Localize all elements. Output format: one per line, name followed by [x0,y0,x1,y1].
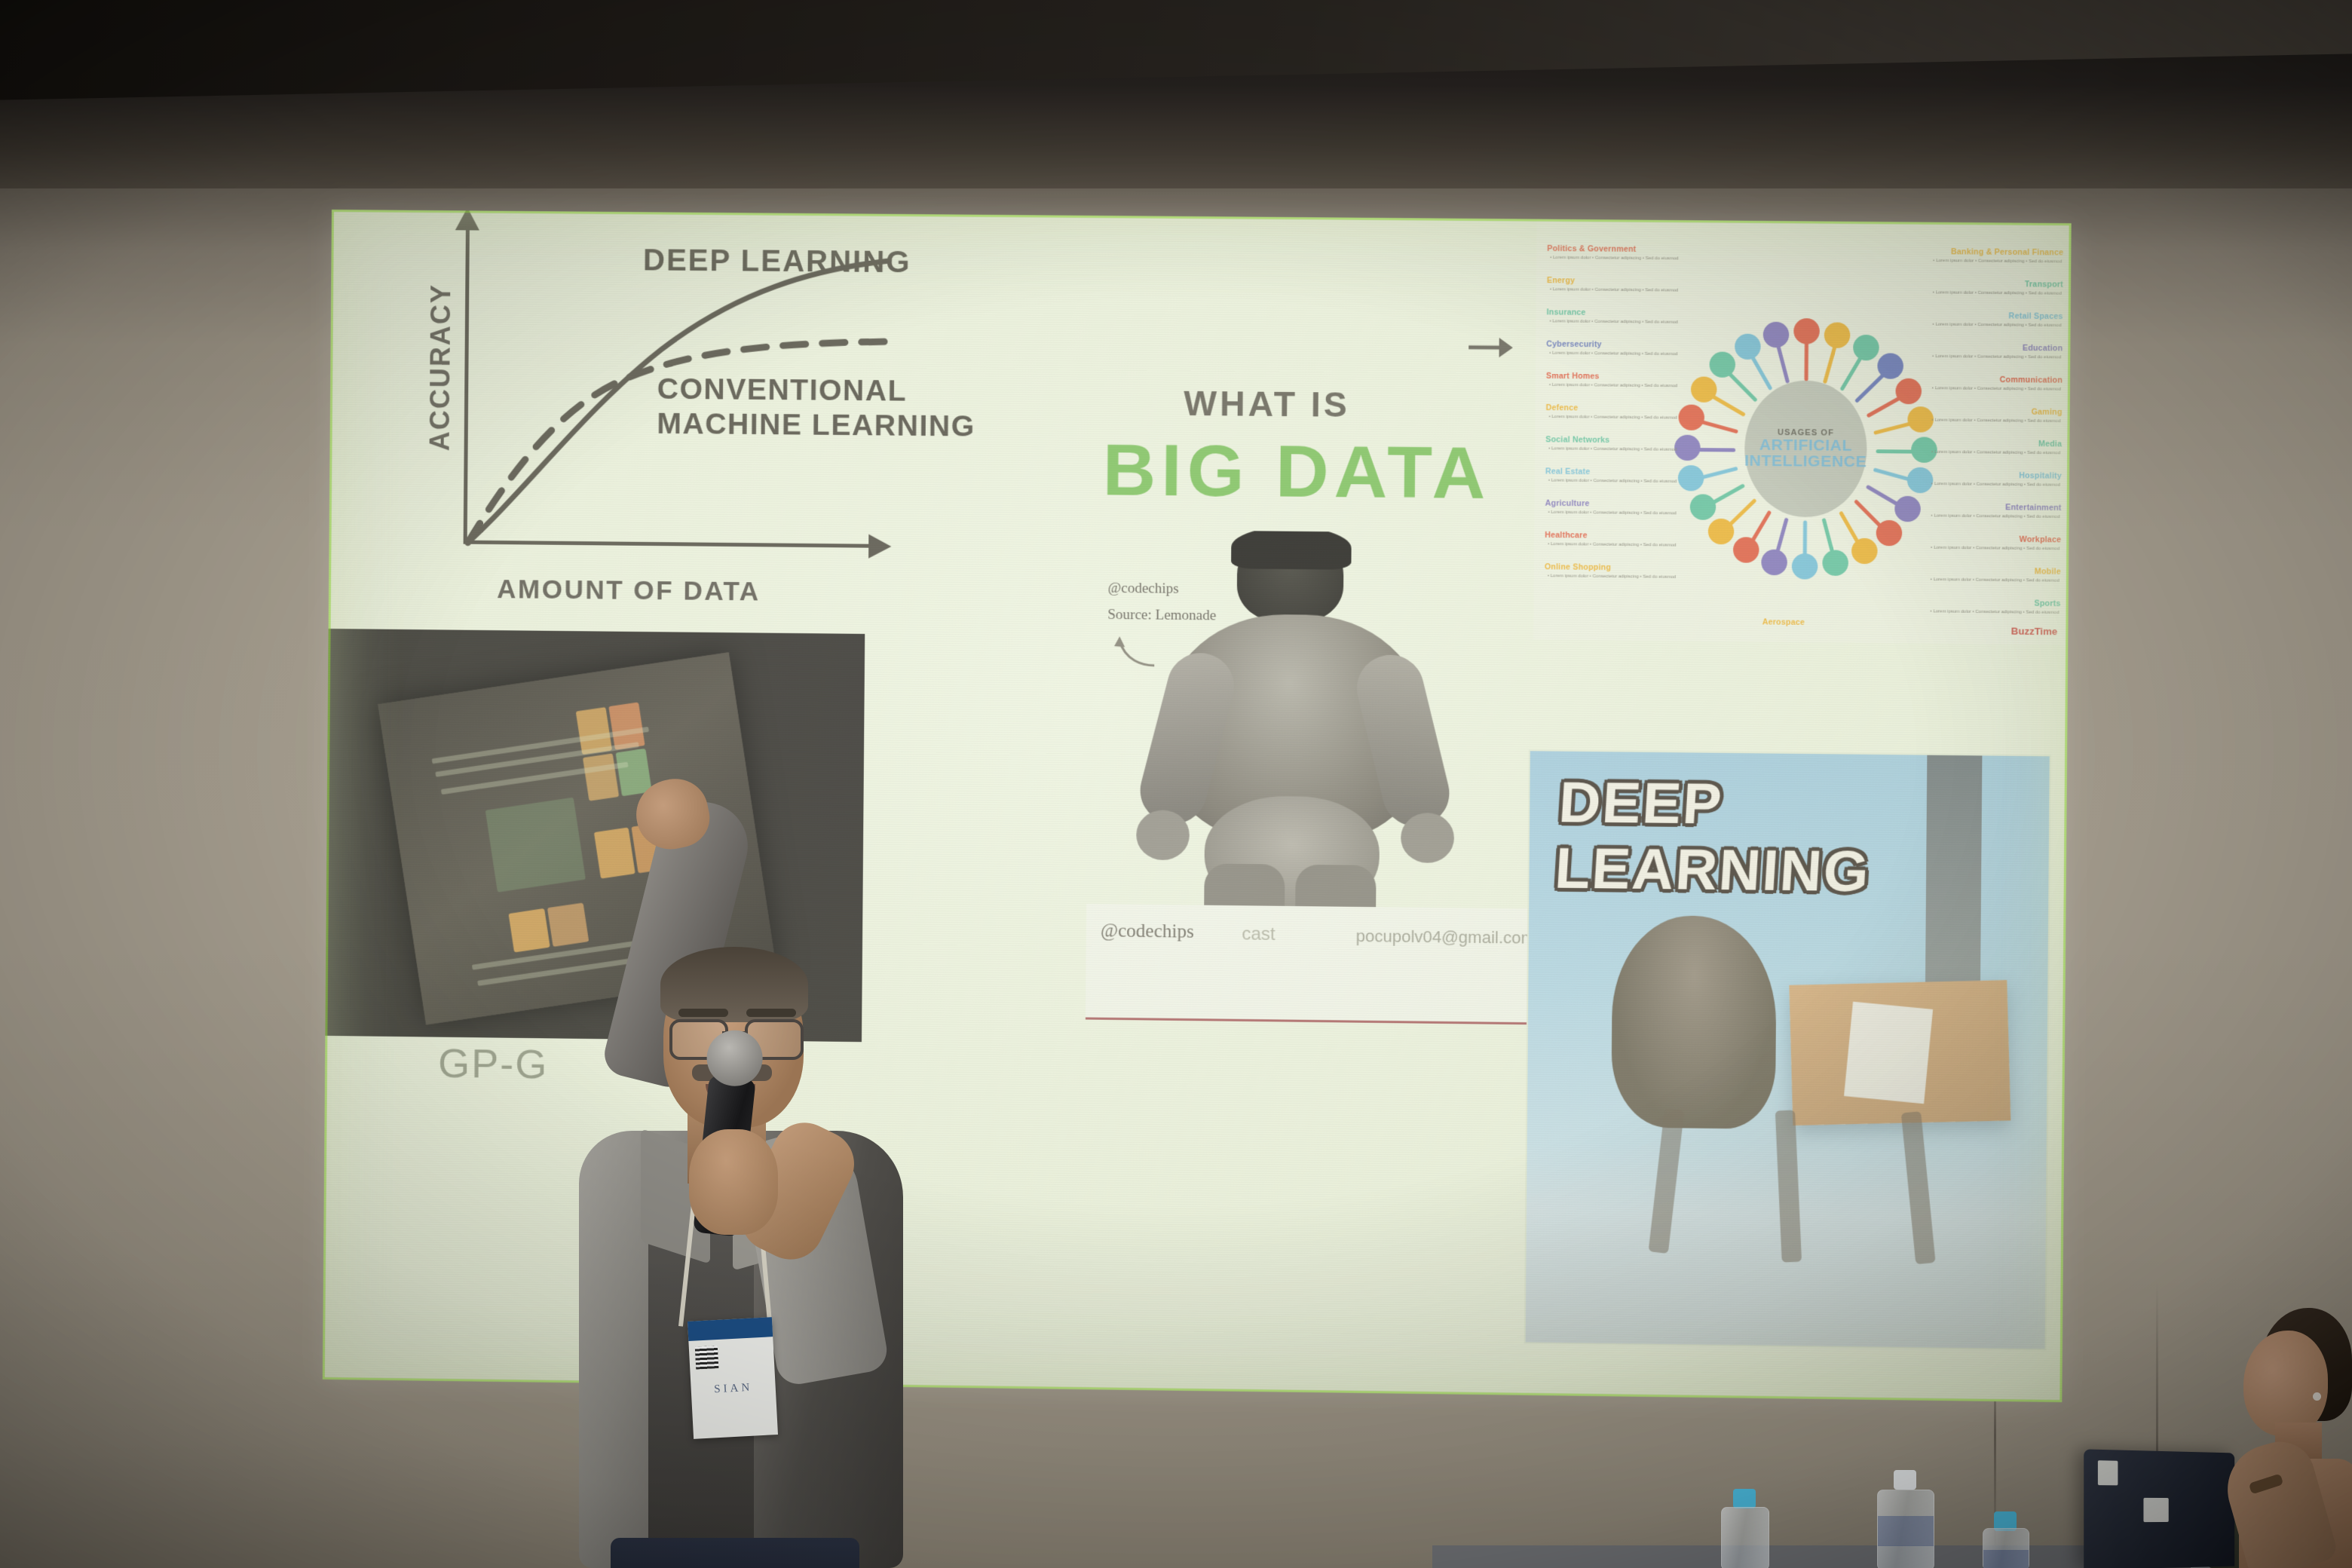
infographic-category-sublines: • Lorem ipsum dolor • Consectetur adipis… [1932,322,2061,330]
infographic-category-label: Real Estate [1545,467,1591,476]
conference-badge: SIAN [688,1317,778,1439]
infographic-category-sublines: • Lorem ipsum dolor • Consectetur adipis… [1933,289,2062,298]
big-data-watermark-handle: @codechips [1101,920,1194,942]
big-data-eyebrow: WHAT IS [1184,383,1350,425]
bottle-body [1983,1528,2029,1568]
audience-member [2216,1308,2352,1568]
infographic-category-sublines: • Lorem ipsum dolor • Consectetur adipis… [1550,318,1678,326]
eyebrow-left [678,1009,728,1017]
infographic-category-sublines: • Lorem ipsum dolor • Consectetur adipis… [1930,608,2059,617]
conventional-ml-line1: CONVENTIONAL [657,373,908,408]
infographic-category-sublines: • Lorem ipsum dolor • Consectetur adipis… [1932,354,2061,362]
photo-scene: ACCURACY AMOUNT OF DATA DEEP LEARNING CO… [0,0,2352,1568]
infographic-category-node [1763,322,1790,348]
infographic-category-label: Sports [2034,599,2060,608]
infographic-category-label: Defence [1546,403,1579,412]
gpu-caption: GP-G [438,1040,549,1089]
desk-paper [1844,1002,1933,1104]
infographic-category-sublines: • Lorem ipsum dolor • Consectetur adipis… [1550,286,1678,295]
infographic-category-node [1732,537,1759,563]
hub-title-line1: ARTIFICIAL [1759,436,1852,454]
infographic-category-label: Online Shopping [1545,562,1611,572]
infographic-category-sublines: • Lorem ipsum dolor • Consectetur adipis… [1932,385,2061,394]
bottle-body [1721,1507,1769,1568]
deep-learning-meme: DEEP LEARNING [1524,749,2051,1350]
hub-title: ARTIFICIAL INTELLIGENCE [1744,436,1867,470]
infographic-category-sublines: • Lorem ipsum dolor • Consectetur adipis… [1933,258,2062,266]
infographic-category-label: Education [2023,344,2063,354]
infographic-category-sublines: • Lorem ipsum dolor • Consectetur adipis… [1548,478,1677,486]
infographic-category-node [1851,538,1877,565]
infographic-category-label: Insurance [1547,308,1586,317]
infographic-category-node [1906,467,1933,494]
badge-qr-code [695,1346,719,1370]
eyebrow-right [746,1009,796,1017]
water-bottle [1983,1511,2028,1568]
laptop[interactable] [2084,1449,2234,1568]
infographic-category-sublines: • Lorem ipsum dolor • Consectetur adipis… [1548,510,1677,518]
infographic-category-label: Healthcare [1545,531,1587,541]
infographic-category-label: Communication [2000,375,2063,385]
infographic-category-node [1853,335,1879,361]
laptop-sticker [2098,1460,2118,1485]
infographic-category-sublines: • Lorem ipsum dolor • Consectetur adipis… [1931,418,2060,426]
infographic-category-label: Politics & Government [1547,244,1636,254]
infographic-category-node [1689,494,1716,520]
infographic-category-node [1735,333,1761,360]
infographic-category-label: Smart Homes [1546,372,1600,381]
infographic-category-label: Retail Spaces [2009,311,2063,321]
infographic-category-node [1761,549,1787,575]
infographic-category-sublines: • Lorem ipsum dolor • Consectetur adipis… [1549,414,1677,422]
meme-title: DEEP LEARNING [1553,770,2051,907]
infographic-category-node [1896,378,1922,404]
underwater-student [1611,915,1777,1129]
bottle-body [1877,1490,1934,1568]
bottle-label [1983,1550,2029,1568]
water-bottle [1721,1489,1768,1568]
infographic-category-sublines: • Lorem ipsum dolor • Consectetur adipis… [1931,577,2060,585]
badge-text: SIAN [691,1380,776,1398]
infographic-category-sublines: • Lorem ipsum dolor • Consectetur adipis… [1931,449,2060,458]
presenter: SIAN [558,799,950,1568]
right-arrow-icon [1467,332,1514,363]
infographic-category-node [1793,318,1820,345]
big-data-watermark-email: pocupolv04@gmail.com [1356,926,1536,948]
infographic-category-label: Transport [2025,280,2063,289]
infographic-category-node [1674,435,1701,461]
hand-holding-microphone [689,1129,778,1235]
ai-usages-infographic: USAGES OF ARTIFICIAL INTELLIGENCE Politi… [1533,216,2072,645]
bottle-cap [1733,1489,1756,1508]
infographic-category-sublines: • Lorem ipsum dolor • Consectetur adipis… [1548,541,1676,550]
infographic-category-sublines: • Lorem ipsum dolor • Consectetur adipis… [1548,446,1677,454]
infographic-category-node [1679,404,1705,430]
infographic-category-node [1877,354,1903,380]
earring [2313,1392,2321,1401]
big-data-block: WHAT IS BIG DATA @codechips Source: Lemo… [1089,382,1582,1053]
infographic-category-label: Hospitality [2019,471,2062,481]
infographic-category-label: Banking & Personal Finance [1951,247,2063,257]
deep-learning-curve-label: DEEP LEARNING [643,243,911,280]
infographic-category-sublines: • Lorem ipsum dolor • Consectetur adipis… [1931,481,2060,489]
infographic-category-node [1691,376,1717,403]
infographic-category-label: Social Networks [1545,435,1609,445]
face [2243,1331,2328,1436]
conventional-ml-line2: MACHINE LEARNING [657,408,975,443]
infographic-category-node [1907,406,1934,433]
infographic-category-sublines: • Lorem ipsum dolor • Consectetur adipis… [1550,255,1678,263]
infographic-category-node [1792,553,1818,580]
bottle-label [1878,1516,1934,1546]
infographic-category-node [1708,518,1735,544]
infographic-category-label: Gaming [2032,408,2063,417]
infographic-category-sublines: • Lorem ipsum dolor • Consectetur adipis… [1549,382,1677,390]
infographic-brand: BuzzTime [2011,626,2057,638]
infographic-category-node [1822,550,1848,576]
x-axis-label: AMOUNT OF DATA [497,574,761,607]
infographic-category-label: Mobile [2035,567,2061,576]
infographic-category-label: Cybersecurity [1546,340,1602,350]
infographic-hub: USAGES OF ARTIFICIAL INTELLIGENCE [1744,380,1868,518]
infographic-category-node [1824,323,1851,349]
infographic-category-sublines: • Lorem ipsum dolor • Consectetur adipis… [1931,545,2060,553]
accuracy-vs-data-chart: ACCURACY AMOUNT OF DATA DEEP LEARNING CO… [350,219,980,617]
infographic-category-label: Entertainment [2005,503,2061,513]
infographic-category-label: Energy [1547,276,1575,285]
infographic-category-node [1678,465,1704,492]
infographic-category-label: Agriculture [1545,499,1590,509]
infographic-category-label: Media [2038,439,2062,449]
conventional-ml-curve-label: CONVENTIONAL MACHINE LEARNING [657,372,975,445]
infographic-category-label: Workplace [2020,535,2062,545]
infographic-category-label: Aerospace [1762,617,1805,627]
infographic-category-sublines: • Lorem ipsum dolor • Consectetur adipis… [1548,573,1676,581]
big-data-headline: BIG DATA [1102,427,1491,516]
water-bottle [1877,1470,1933,1568]
big-data-watermark-cast: cast [1242,923,1276,945]
bottle-cap [1894,1470,1916,1490]
laptop-sticker [2143,1498,2168,1522]
infographic-category-node [1894,495,1921,522]
infographic-category-sublines: • Lorem ipsum dolor • Consectetur adipis… [1549,351,1677,359]
trousers [611,1538,859,1568]
y-axis-label: ACCURACY [424,262,457,473]
infographic-category-sublines: • Lorem ipsum dolor • Consectetur adipis… [1931,513,2060,521]
infographic-category-node [1876,519,1902,546]
hub-title-line2: INTELLIGENCE [1744,452,1867,471]
